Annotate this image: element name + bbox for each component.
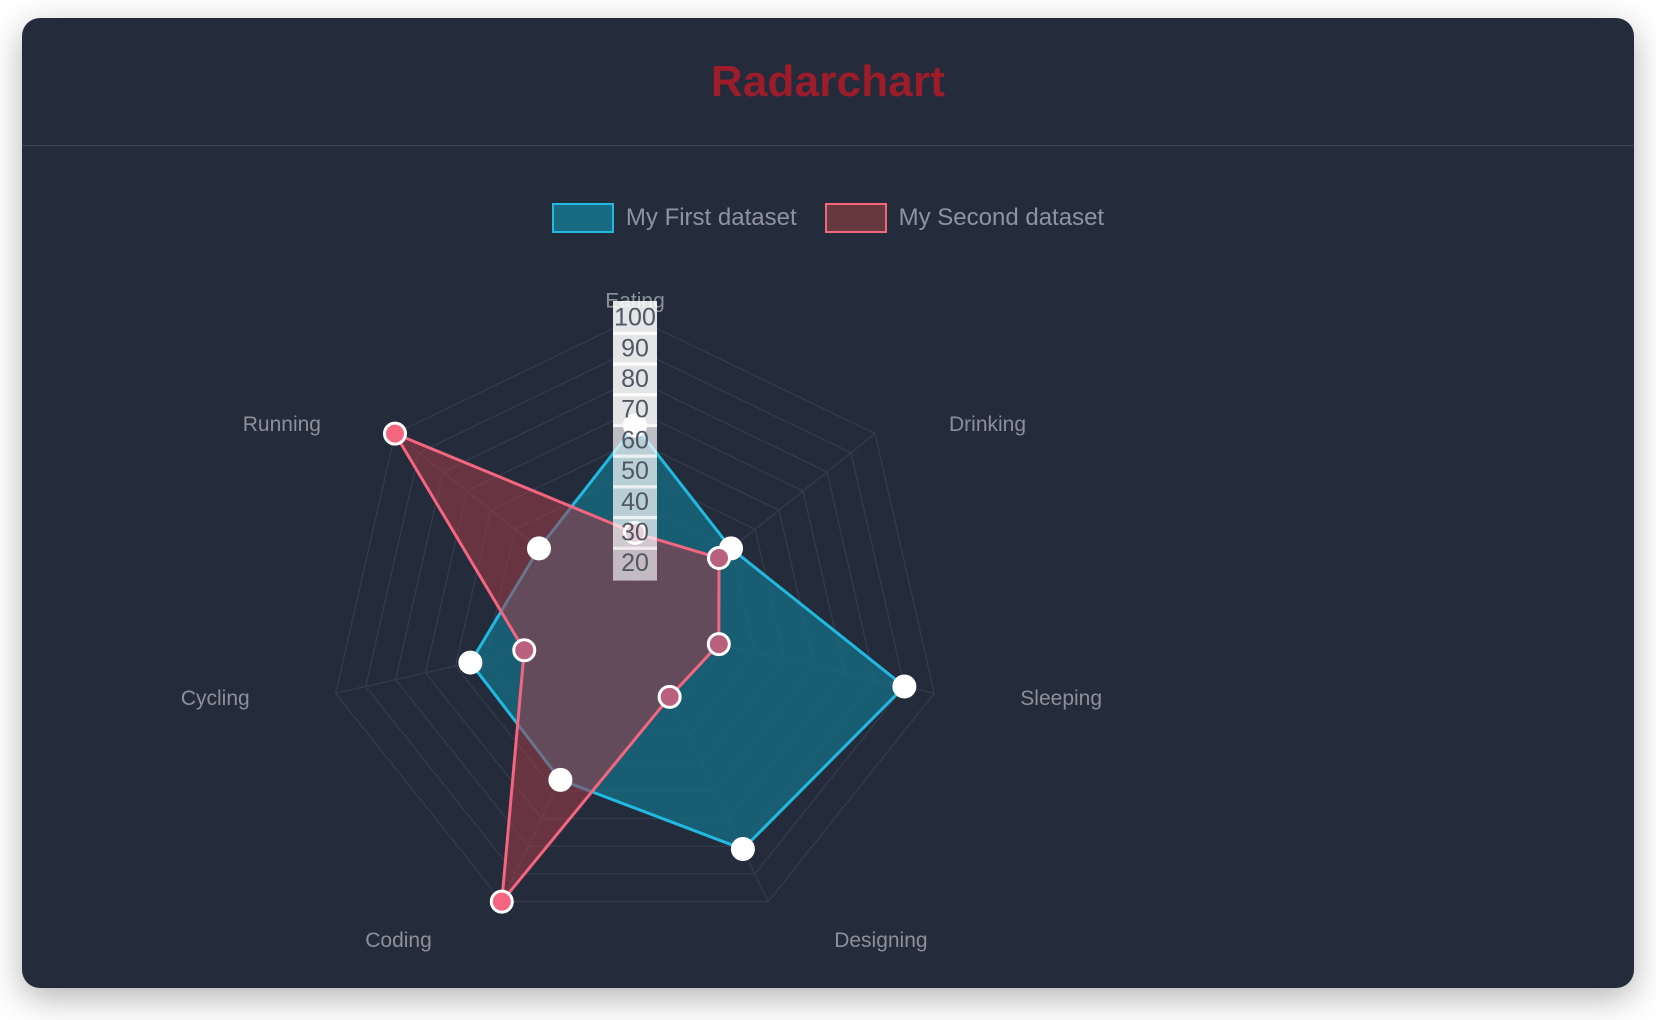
- radial-tick-80: 80: [613, 362, 657, 396]
- radial-tick-40: 40: [613, 485, 657, 519]
- tick-label: 50: [621, 457, 649, 485]
- radial-tick-90: 90: [613, 332, 657, 366]
- tick-label: 100: [614, 304, 656, 332]
- axis-label-running: Running: [243, 413, 321, 436]
- radial-tick-50: 50: [613, 455, 657, 489]
- data-point[interactable]: [708, 634, 729, 655]
- tick-label: 90: [621, 334, 649, 362]
- radial-tick-100: 100: [613, 301, 657, 335]
- data-point[interactable]: [550, 769, 571, 790]
- data-point[interactable]: [732, 839, 753, 860]
- radial-tick-70: 70: [613, 393, 657, 427]
- radar-chart-svg[interactable]: EatingDrinkingSleepingDesigningCodingCyc…: [22, 18, 1634, 988]
- data-point[interactable]: [528, 538, 549, 559]
- tick-label: 20: [621, 549, 649, 577]
- data-point[interactable]: [491, 891, 512, 912]
- data-point[interactable]: [894, 676, 915, 697]
- chart-card: Radarchart My First dataset My Second da…: [22, 18, 1634, 988]
- radial-tick-20: 20: [613, 547, 657, 581]
- axis-label-cycling: Cycling: [181, 687, 250, 710]
- data-point[interactable]: [514, 640, 535, 661]
- data-point[interactable]: [709, 548, 730, 569]
- tick-label: 60: [621, 426, 649, 454]
- axis-label-coding: Coding: [365, 929, 432, 952]
- tick-label: 70: [621, 396, 649, 424]
- data-point[interactable]: [659, 686, 680, 707]
- data-point[interactable]: [460, 652, 481, 673]
- radial-tick-30: 30: [613, 516, 657, 550]
- axis-label-sleeping: Sleeping: [1020, 687, 1102, 710]
- tick-label: 80: [621, 365, 649, 393]
- tick-label: 30: [621, 519, 649, 547]
- radar-chart[interactable]: EatingDrinkingSleepingDesigningCodingCyc…: [22, 18, 1634, 988]
- screenshot-root: Radarchart My First dataset My Second da…: [0, 0, 1656, 1020]
- data-point[interactable]: [384, 423, 405, 444]
- axis-label-designing: Designing: [834, 929, 927, 952]
- axis-label-drinking: Drinking: [949, 413, 1026, 436]
- radial-tick-60: 60: [613, 424, 657, 458]
- tick-label: 40: [621, 488, 649, 516]
